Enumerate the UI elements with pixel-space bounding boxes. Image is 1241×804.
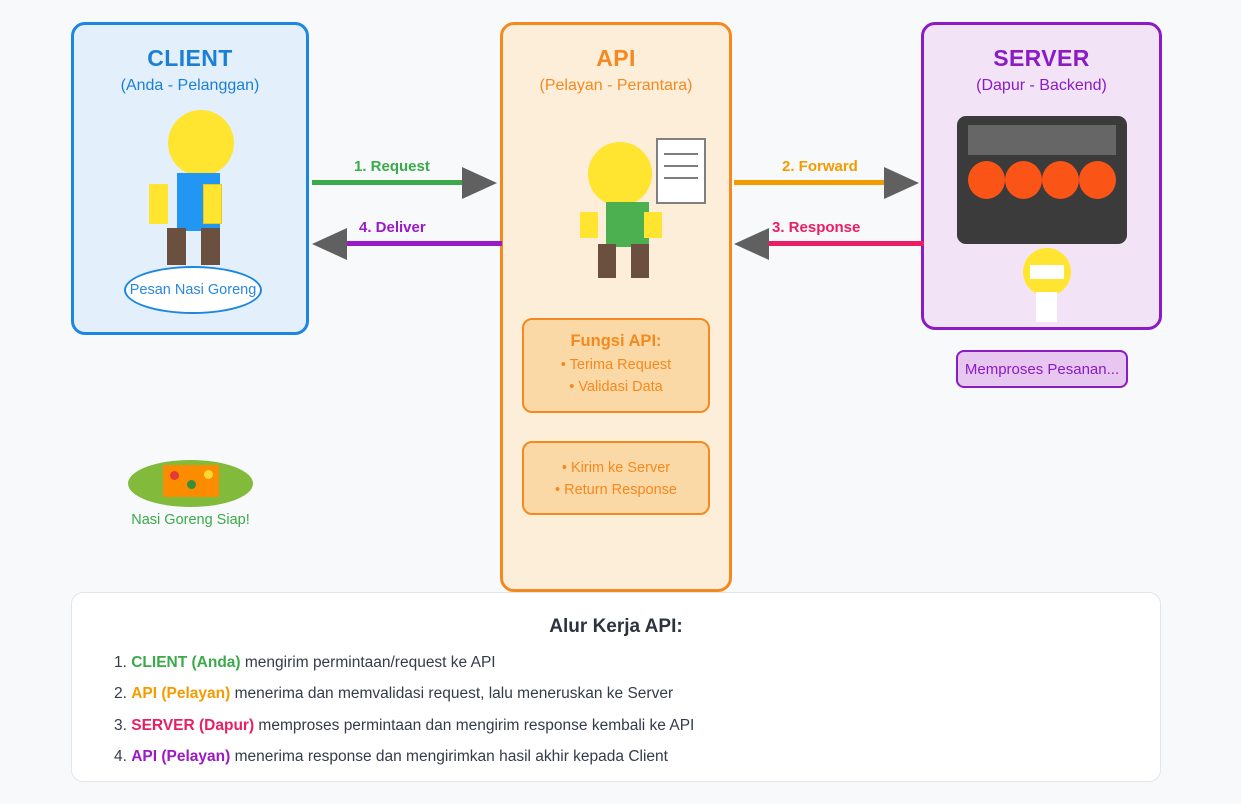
- arrow-response-label: 3. Response: [772, 219, 860, 236]
- flow-step-number: 1.: [114, 654, 131, 671]
- notepad-icon: [656, 138, 706, 204]
- client-title: CLIENT: [74, 45, 306, 72]
- arrow-request-label: 1. Request: [354, 158, 430, 175]
- arrow-deliver-label: 4. Deliver: [359, 219, 426, 236]
- api-function-box-2: • Kirim ke Server • Return Response: [522, 441, 710, 515]
- chef-icon: [1017, 248, 1067, 322]
- arrow-response-head-icon: [734, 228, 769, 260]
- notepad-line: [664, 153, 698, 155]
- flow-step-text: menerima response dan mengirimkan hasil …: [230, 748, 668, 765]
- api-leg-left: [598, 244, 616, 278]
- client-speech-text: Pesan Nasi Goreng: [130, 282, 257, 298]
- client-leg-right: [201, 228, 220, 265]
- flow-step-number: 3.: [114, 717, 131, 734]
- api-function-box-1-line-1: • Terima Request: [524, 357, 708, 373]
- burner: [1042, 161, 1079, 199]
- flow-title: Alur Kerja API:: [72, 616, 1160, 638]
- arrow-response-shaft: [769, 241, 924, 246]
- client-arm-right: [203, 184, 222, 224]
- server-status-text: Memproses Pesanan...: [965, 361, 1119, 378]
- server-subtitle: (Dapur - Backend): [924, 77, 1159, 95]
- api-title: API: [503, 45, 729, 72]
- client-leg-left: [167, 228, 186, 265]
- fried-rice-result-icon: Nasi Goreng Siap!: [128, 460, 253, 530]
- topping-dot-red: [170, 471, 179, 480]
- flow-step: 4. API (Pelayan) menerima response dan m…: [114, 746, 1160, 768]
- arrow-request-head-icon: [462, 167, 497, 199]
- server-status-badge: Memproses Pesanan...: [956, 350, 1128, 388]
- burner: [1079, 161, 1116, 199]
- flow-step: 3. SERVER (Dapur) memproses permintaan d…: [114, 715, 1160, 737]
- arrow-forward-shaft: [734, 180, 889, 185]
- server-title: SERVER: [924, 45, 1159, 72]
- arrow-deliver-shaft: [347, 241, 502, 246]
- arrow-deliver-head-icon: [312, 228, 347, 260]
- flow-step-actor: API (Pelayan): [131, 748, 230, 765]
- flow-card: Alur Kerja API: 1. CLIENT (Anda) mengiri…: [71, 592, 1161, 782]
- stove-icon: [957, 116, 1127, 244]
- api-arm-right: [644, 212, 662, 238]
- api-arm-left: [580, 212, 598, 238]
- notepad-line: [664, 165, 698, 167]
- api-subtitle: (Pelayan - Perantara): [503, 77, 729, 95]
- api-function-box-1-line-2: • Validasi Data: [524, 379, 708, 395]
- client-head: [168, 110, 234, 176]
- api-waiter-icon: [578, 142, 674, 287]
- arrow-forward-head-icon: [884, 167, 919, 199]
- client-speech-bubble: Pesan Nasi Goreng: [124, 266, 262, 314]
- topping-dot-green: [187, 480, 196, 489]
- flow-step-number: 2.: [114, 685, 131, 702]
- chef-body: [1036, 292, 1057, 322]
- diagram-canvas: CLIENT (Anda - Pelanggan) Pesan Nasi Gor…: [0, 0, 1241, 804]
- stove-burners: [968, 161, 1116, 205]
- notepad-line: [664, 177, 698, 179]
- arrow-forward-label: 2. Forward: [782, 158, 858, 175]
- api-function-box-1: Fungsi API: • Terima Request • Validasi …: [522, 318, 710, 413]
- client-person-icon: [146, 110, 242, 250]
- api-function-box-2-line-2: • Return Response: [524, 482, 708, 498]
- api-leg-right: [631, 244, 649, 278]
- flow-step-text: memproses permintaan dan mengirim respon…: [254, 717, 694, 734]
- api-function-box-1-title: Fungsi API:: [524, 332, 708, 351]
- burner: [968, 161, 1005, 199]
- flow-step-list: 1. CLIENT (Anda) mengirim permintaan/req…: [72, 652, 1160, 769]
- flow-step-text: menerima dan memvalidasi request, lalu m…: [230, 685, 673, 702]
- api-function-box-2-line-1: • Kirim ke Server: [524, 460, 708, 476]
- flow-step-text: mengirim permintaan/request ke API: [241, 654, 496, 671]
- chef-hat-band: [1030, 265, 1064, 279]
- api-head: [588, 142, 652, 206]
- client-subtitle: (Anda - Pelanggan): [74, 77, 306, 95]
- stove-control-panel: [968, 125, 1116, 155]
- burner: [1005, 161, 1042, 199]
- fried-rice-caption: Nasi Goreng Siap!: [118, 512, 263, 528]
- client-arm-left: [149, 184, 168, 224]
- flow-step: 2. API (Pelayan) menerima dan memvalidas…: [114, 683, 1160, 705]
- flow-step-actor: SERVER (Dapur): [131, 717, 254, 734]
- arrow-request-shaft: [312, 180, 467, 185]
- topping-dot-yellow: [204, 470, 213, 479]
- api-torso: [606, 202, 649, 247]
- flow-step-actor: CLIENT (Anda): [131, 654, 240, 671]
- flow-step-number: 4.: [114, 748, 131, 765]
- flow-step-actor: API (Pelayan): [131, 685, 230, 702]
- flow-step: 1. CLIENT (Anda) mengirim permintaan/req…: [114, 652, 1160, 674]
